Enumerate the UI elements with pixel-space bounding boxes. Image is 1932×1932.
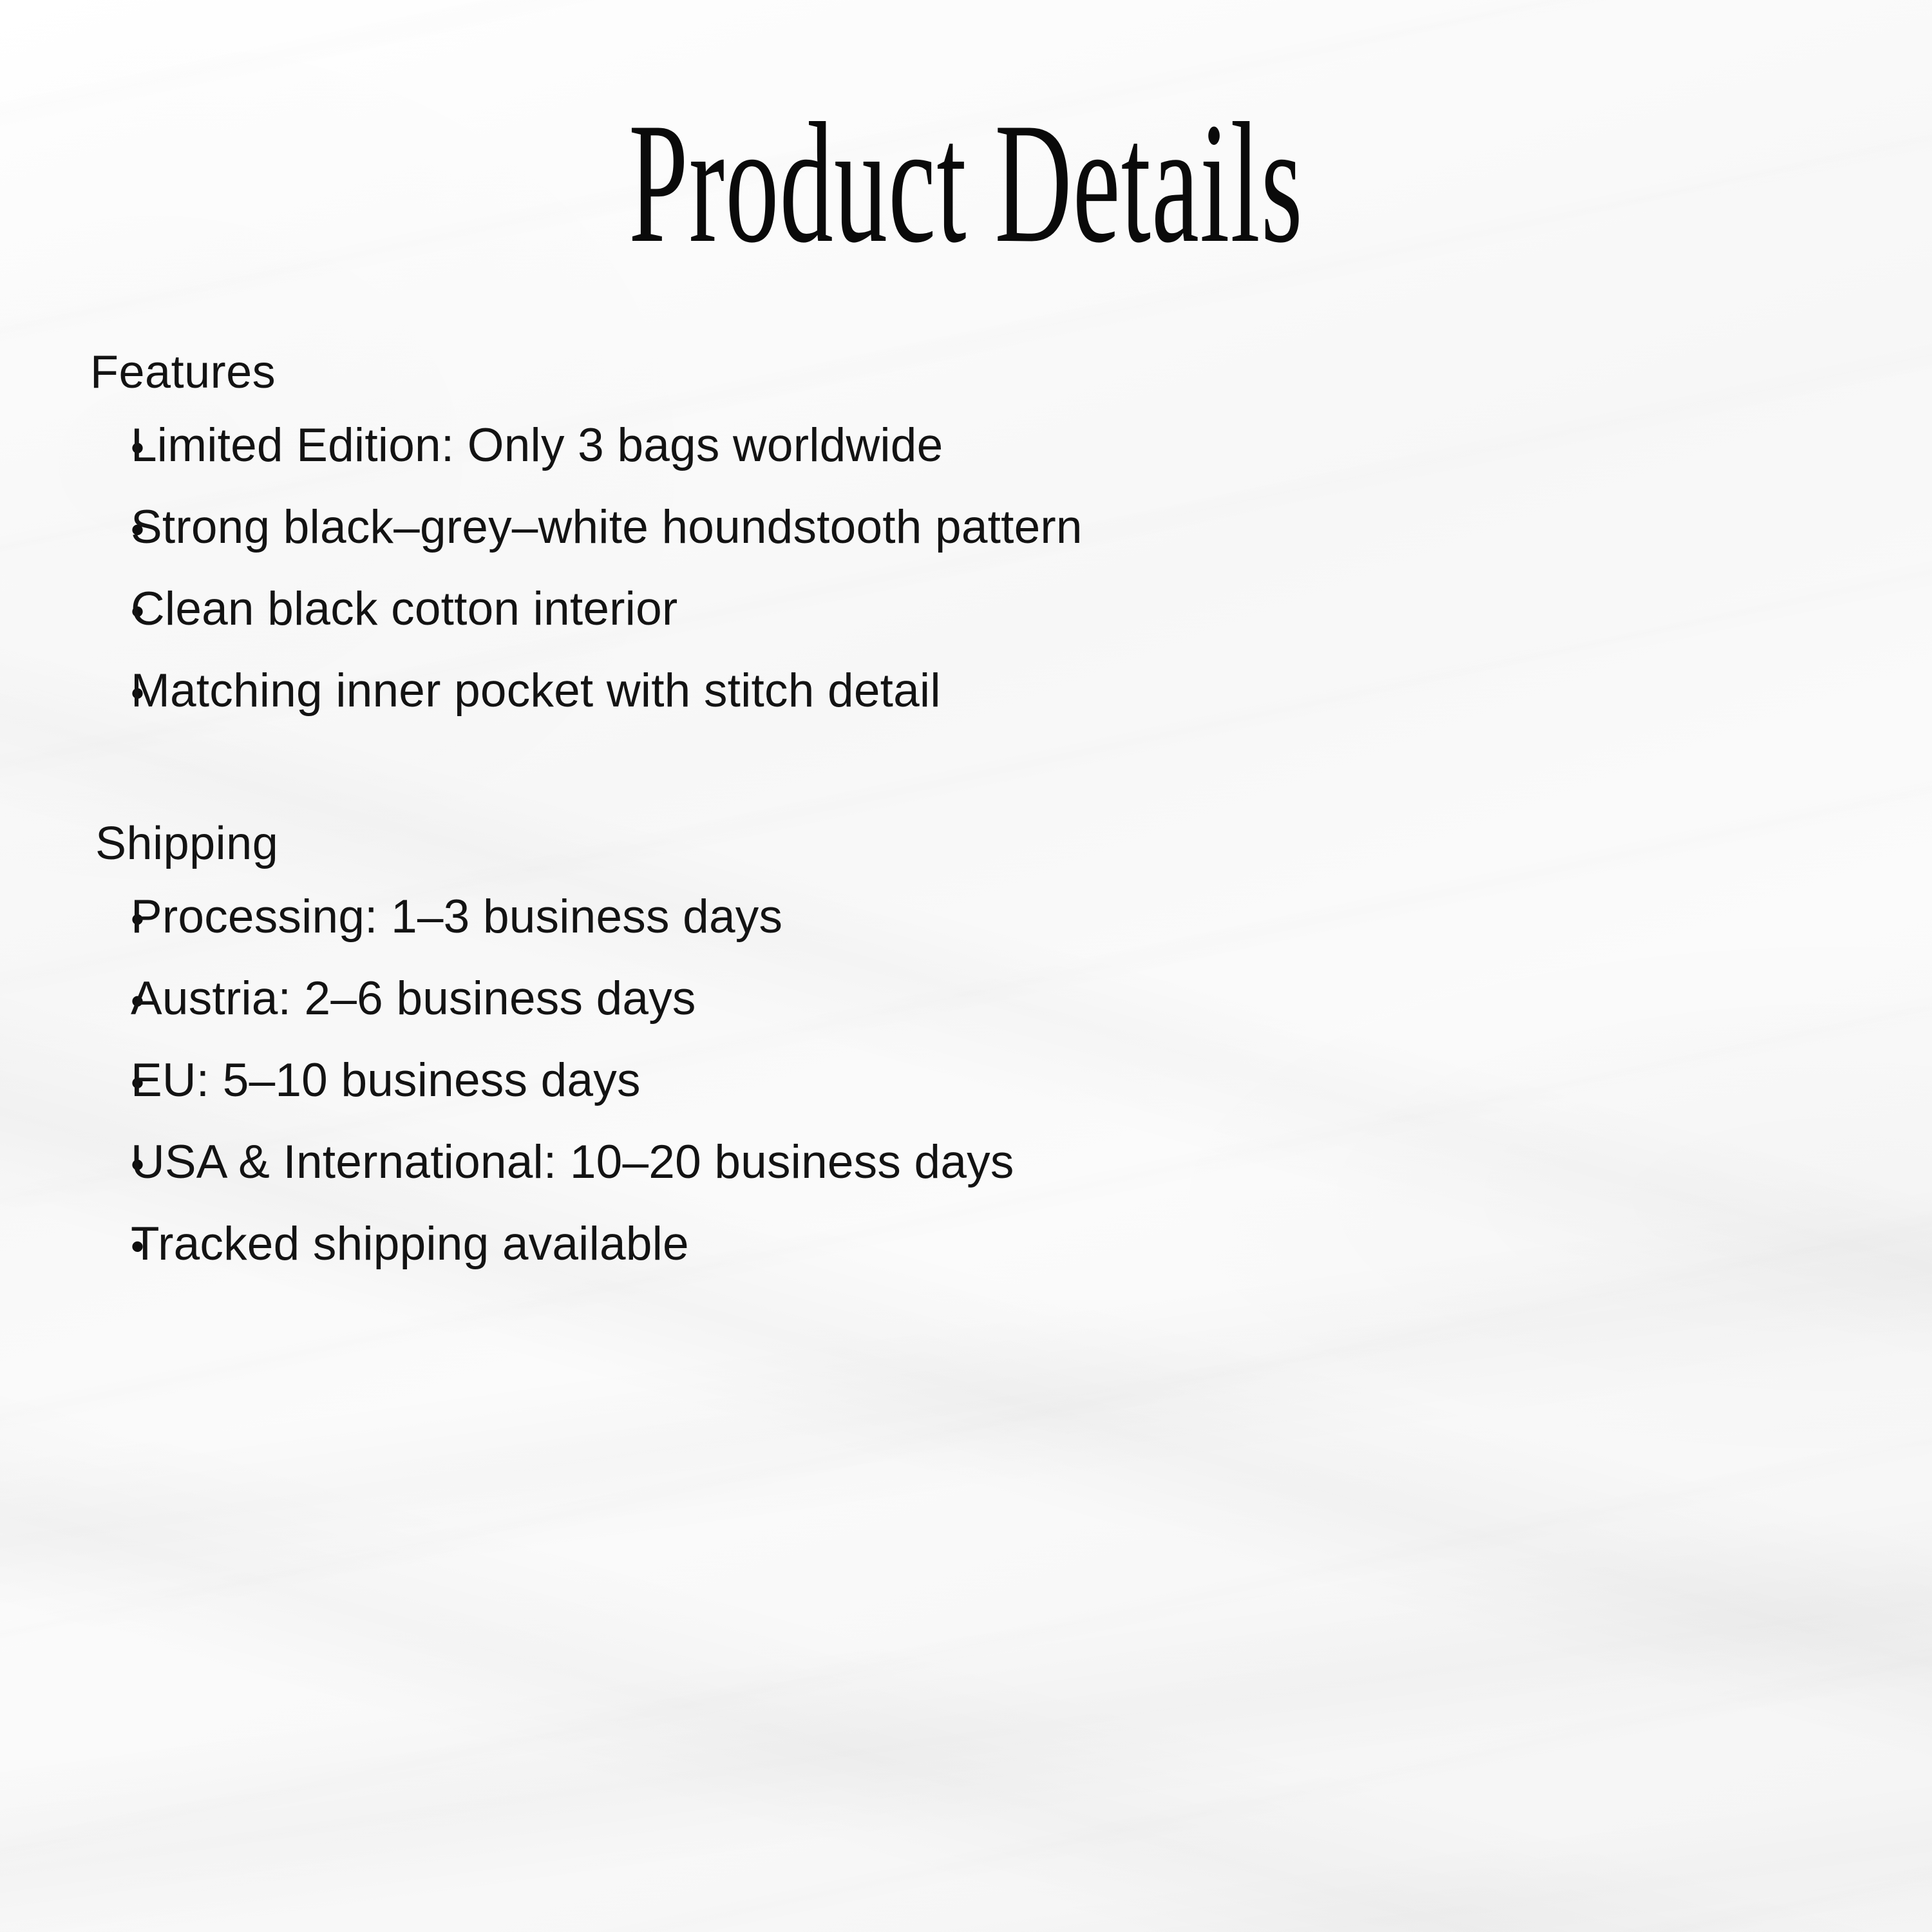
section-heading-shipping: Shipping bbox=[90, 819, 1014, 868]
page-title: Product Details bbox=[367, 97, 1565, 269]
list-item-label: Tracked shipping available bbox=[131, 1204, 689, 1283]
list-item-label: Strong black–grey–white houndstooth patt… bbox=[131, 488, 1083, 567]
list-item: • Clean black cotton interior bbox=[90, 569, 1083, 651]
section-heading-features: Features bbox=[90, 348, 1083, 397]
list-item-label: Austria: 2–6 business days bbox=[131, 959, 696, 1038]
list-item-label: USA & International: 10–20 business days bbox=[131, 1122, 1014, 1202]
list-item-label: Limited Edition: Only 3 bags worldwide bbox=[131, 406, 943, 485]
features-list: • Limited Edition: Only 3 bags worldwide… bbox=[90, 406, 1083, 733]
list-item: • Processing: 1–3 business days bbox=[90, 877, 1014, 959]
list-item: • USA & International: 10–20 business da… bbox=[90, 1122, 1014, 1204]
list-item: • Tracked shipping available bbox=[90, 1204, 1014, 1286]
bullet-dot-icon: • bbox=[90, 880, 131, 959]
icon-row: SUSTAINABILITY SUSTAINABILITY bbox=[0, 1391, 1932, 1842]
list-item: • EU: 5–10 business days bbox=[90, 1041, 1014, 1122]
bullet-dot-icon: • bbox=[90, 1207, 131, 1286]
list-item-label: Matching inner pocket with stitch detail bbox=[131, 651, 941, 730]
section-features: Features • Limited Edition: Only 3 bags … bbox=[90, 348, 1083, 733]
bullet-dot-icon: • bbox=[90, 572, 131, 651]
bullet-dot-icon: • bbox=[90, 1043, 131, 1122]
list-item-label: Clean black cotton interior bbox=[131, 569, 677, 649]
list-item: • Austria: 2–6 business days bbox=[90, 959, 1014, 1041]
shipping-list: • Processing: 1–3 business days • Austri… bbox=[90, 877, 1014, 1286]
list-item: • Limited Edition: Only 3 bags worldwide bbox=[90, 406, 1083, 488]
list-item-label: Processing: 1–3 business days bbox=[131, 877, 782, 956]
bullet-dot-icon: • bbox=[90, 408, 131, 488]
bullet-dot-icon: • bbox=[90, 490, 131, 569]
list-item: • Strong black–grey–white houndstooth pa… bbox=[90, 488, 1083, 569]
section-shipping: Shipping • Processing: 1–3 business days… bbox=[90, 819, 1014, 1286]
bullet-dot-icon: • bbox=[90, 654, 131, 733]
list-item-label: EU: 5–10 business days bbox=[131, 1041, 641, 1120]
bullet-dot-icon: • bbox=[90, 961, 131, 1041]
list-item: • Matching inner pocket with stitch deta… bbox=[90, 651, 1083, 733]
product-details-page: Product Details Features • Limited Editi… bbox=[0, 0, 1932, 1932]
bullet-dot-icon: • bbox=[90, 1125, 131, 1204]
